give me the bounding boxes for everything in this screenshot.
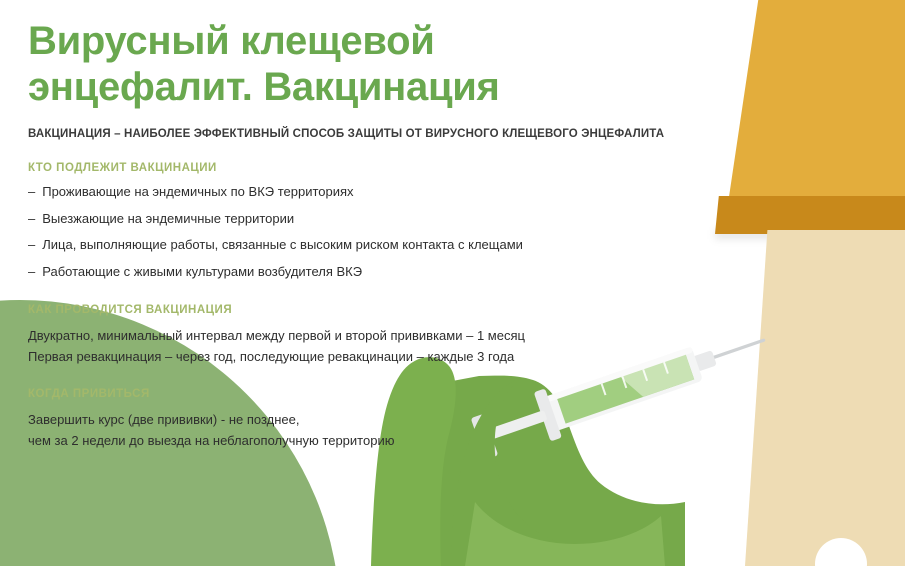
- page-title: Вирусный клещевой энцефалит. Вакцинация: [28, 18, 638, 111]
- section-how-vaccination-is-done: КАК ПРОВОДИТСЯ ВАКЦИНАЦИЯ Двукратно, мин…: [28, 304, 720, 367]
- section-heading: КАК ПРОВОДИТСЯ ВАКЦИНАЦИЯ: [28, 304, 720, 316]
- poster-text-column: Вирусный клещевой энцефалит. Вакцинация …: [0, 0, 720, 451]
- patient-forearm-shape: [745, 230, 905, 566]
- poster-subtitle: ВАКЦИНАЦИЯ – НАИБОЛЕЕ ЭФФЕКТИВНЫЙ СПОСОБ…: [28, 128, 720, 140]
- section-heading: КТО ПОДЛЕЖИТ ВАКЦИНАЦИИ: [28, 162, 720, 174]
- section-when-to-vaccinate: КОГДА ПРИВИТЬСЯ Завершить курс (две прив…: [28, 388, 720, 451]
- list-item-label: Проживающие на эндемичных по ВКЭ террито…: [42, 183, 353, 202]
- paragraph-line: Первая ревакцинация – через год, последу…: [28, 346, 720, 367]
- dash-bullet-icon: –: [28, 263, 35, 282]
- paragraph-line: чем за 2 недели до выезда на неблагополу…: [28, 430, 720, 451]
- paragraph-line: Завершить курс (две прививки) - не поздн…: [28, 409, 720, 430]
- glove-palm-highlight: [465, 502, 665, 566]
- list-item-label: Лица, выполняющие работы, связанные с вы…: [42, 236, 523, 255]
- list-item-label: Выезжающие на эндемичные территории: [42, 210, 294, 229]
- section-heading: КОГДА ПРИВИТЬСЯ: [28, 388, 720, 400]
- list-item: – Работающие с живыми культурами возбуди…: [28, 263, 720, 282]
- list-item: – Выезжающие на эндемичные территории: [28, 210, 720, 229]
- poster-canvas: Вирусный клещевой энцефалит. Вакцинация …: [0, 0, 905, 566]
- paragraph-line: Двукратно, минимальный интервал между пе…: [28, 325, 720, 346]
- list-item: – Проживающие на эндемичных по ВКЭ терри…: [28, 183, 720, 202]
- dash-bullet-icon: –: [28, 183, 35, 202]
- list-item-label: Работающие с живыми культурами возбудите…: [42, 263, 362, 282]
- sleeve-shadow: [715, 230, 905, 239]
- forearm-highlight: [815, 538, 867, 566]
- dash-bullet-icon: –: [28, 210, 35, 229]
- section-who-should-be-vaccinated: КТО ПОДЛЕЖИТ ВАКЦИНАЦИИ – Проживающие на…: [28, 162, 720, 282]
- list-item: – Лица, выполняющие работы, связанные с …: [28, 236, 720, 255]
- bullet-list: – Проживающие на эндемичных по ВКЭ терри…: [28, 183, 720, 282]
- dash-bullet-icon: –: [28, 236, 35, 255]
- sleeve-cuff-band: [715, 196, 905, 234]
- yellow-sleeve-shape: [720, 0, 905, 220]
